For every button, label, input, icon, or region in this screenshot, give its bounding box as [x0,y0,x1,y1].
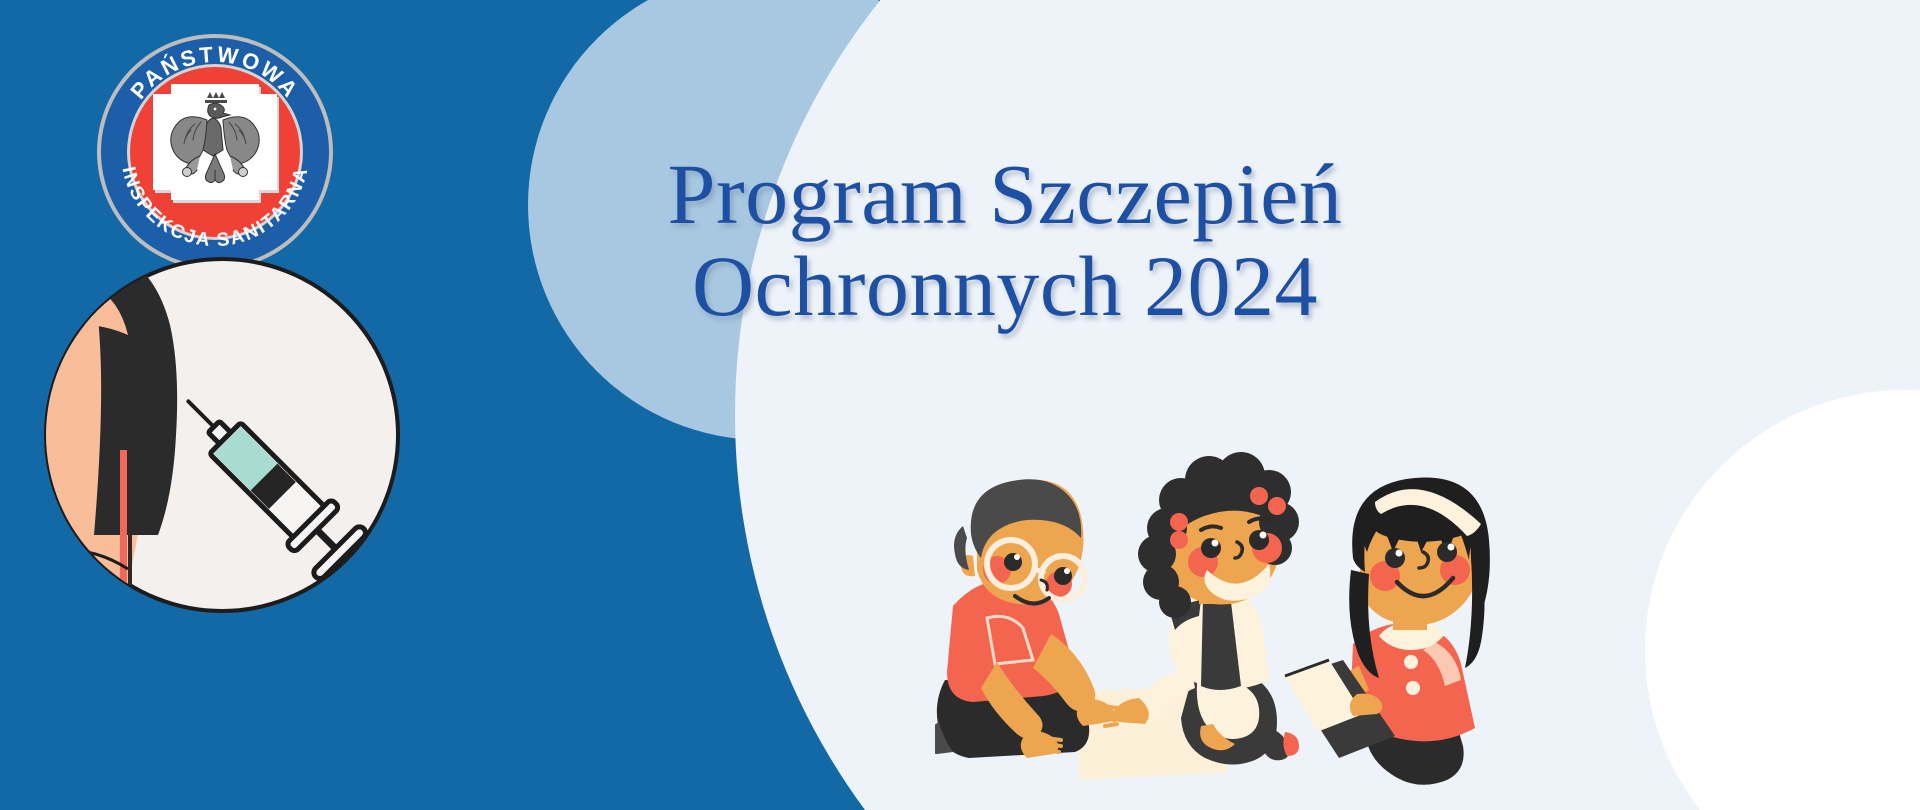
title-line-1: Program Szczepień [655,148,1355,240]
vaccination-syringe-illustration [42,255,402,615]
banner-title: Program Szczepień Ochronnych 2024 [655,148,1355,332]
children-illustration [935,430,1495,810]
child-boy-with-glasses-icon [935,479,1117,758]
child-girl-with-headband-icon [1285,478,1490,785]
child-girl-curly-hair-icon [1103,452,1299,765]
title-line-2: Ochronnych 2024 [655,240,1355,332]
panstwowa-inspekcja-sanitarna-emblem-icon: PAŃSTWOWA INSPEKCJA SANITARNA [95,32,335,272]
vaccination-program-banner: PAŃSTWOWA INSPEKCJA SANITARNA [0,0,1920,810]
